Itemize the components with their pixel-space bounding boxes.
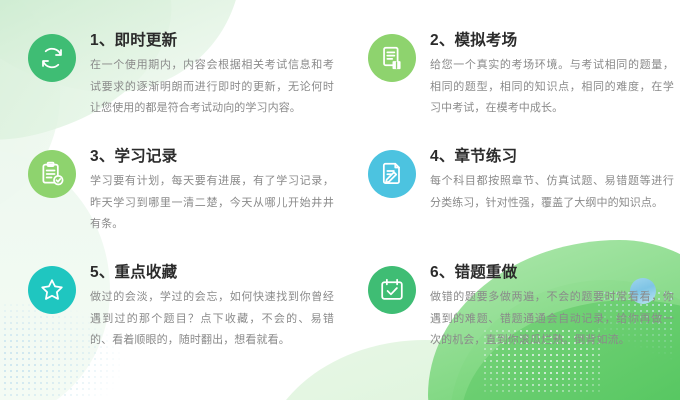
feature-grid: 1、即时更新 在一个使用期内，内容会根据相关考试信息和考试要求的逐渐明朗而进行即…	[0, 0, 680, 400]
feature-icon-badge-5	[28, 266, 76, 314]
feature-title-5: 5、重点收藏	[90, 263, 334, 283]
feature-icon-badge-1	[28, 34, 76, 82]
clipboard-check-icon	[38, 160, 66, 188]
feature-list-page: 1、即时更新 在一个使用期内，内容会根据相关考试信息和考试要求的逐渐明朗而进行即…	[0, 0, 680, 400]
feature-card-4: 4、章节练习 每个科目都按照章节、仿真试题、易错题等进行分类练习，针对性强，覆盖…	[340, 146, 680, 262]
feature-card-1: 1、即时更新 在一个使用期内，内容会根据相关考试信息和考试要求的逐渐明朗而进行即…	[0, 30, 340, 146]
feature-text-6: 6、错题重做 做错的题要多做两遍，不会的题要时常看看，你遇到的难题、错题通通会自…	[430, 262, 674, 351]
feature-card-5: 5、重点收藏 做过的会淡，学过的会忘，如何快速找到你曾经遇到过的那个题目？点下收…	[0, 262, 340, 378]
feature-text-1: 1、即时更新 在一个使用期内，内容会根据相关考试信息和考试要求的逐渐明朗而进行即…	[90, 30, 334, 119]
feature-desc-2: 给您一个真实的考场环境。与考试相同的题量，相同的题型，相同的知识点，相同的难度，…	[430, 55, 674, 119]
star-icon	[38, 276, 66, 304]
feature-desc-5: 做过的会淡，学过的会忘，如何快速找到你曾经遇到过的那个题目？点下收藏，不会的、易…	[90, 287, 334, 351]
feature-title-6: 6、错题重做	[430, 263, 674, 283]
feature-title-4: 4、章节练习	[430, 147, 674, 167]
exam-paper-icon	[378, 44, 406, 72]
feature-icon-badge-3	[28, 150, 76, 198]
feature-icon-badge-2	[368, 34, 416, 82]
feature-desc-3: 学习要有计划，每天要有进展，有了学习记录，昨天学习到哪里一清二楚，今天从哪儿开始…	[90, 171, 334, 235]
feature-title-3: 3、学习记录	[90, 147, 334, 167]
feature-text-5: 5、重点收藏 做过的会淡，学过的会忘，如何快速找到你曾经遇到过的那个题目？点下收…	[90, 262, 334, 351]
refresh-icon	[38, 44, 66, 72]
feature-desc-1: 在一个使用期内，内容会根据相关考试信息和考试要求的逐渐明朗而进行即时的更新，无论…	[90, 55, 334, 119]
feature-desc-4: 每个科目都按照章节、仿真试题、易错题等进行分类练习，针对性强，覆盖了大纲中的知识…	[430, 171, 674, 214]
feature-icon-badge-4	[368, 150, 416, 198]
feature-text-2: 2、模拟考场 给您一个真实的考场环境。与考试相同的题量，相同的题型，相同的知识点…	[430, 30, 674, 119]
calendar-check-icon	[378, 276, 406, 304]
feature-title-2: 2、模拟考场	[430, 31, 674, 51]
feature-desc-6: 做错的题要多做两遍，不会的题要时常看看，你遇到的难题、错题通通会自动记录，给你再…	[430, 287, 674, 351]
feature-text-3: 3、学习记录 学习要有计划，每天要有进展，有了学习记录，昨天学习到哪里一清二楚，…	[90, 146, 334, 235]
feature-text-4: 4、章节练习 每个科目都按照章节、仿真试题、易错题等进行分类练习，针对性强，覆盖…	[430, 146, 674, 214]
feature-card-2: 2、模拟考场 给您一个真实的考场环境。与考试相同的题量，相同的题型，相同的知识点…	[340, 30, 680, 146]
feature-title-1: 1、即时更新	[90, 31, 334, 51]
feature-card-3: 3、学习记录 学习要有计划，每天要有进展，有了学习记录，昨天学习到哪里一清二楚，…	[0, 146, 340, 262]
document-pencil-icon	[378, 160, 406, 188]
feature-icon-badge-6	[368, 266, 416, 314]
feature-card-6: 6、错题重做 做错的题要多做两遍，不会的题要时常看看，你遇到的难题、错题通通会自…	[340, 262, 680, 378]
